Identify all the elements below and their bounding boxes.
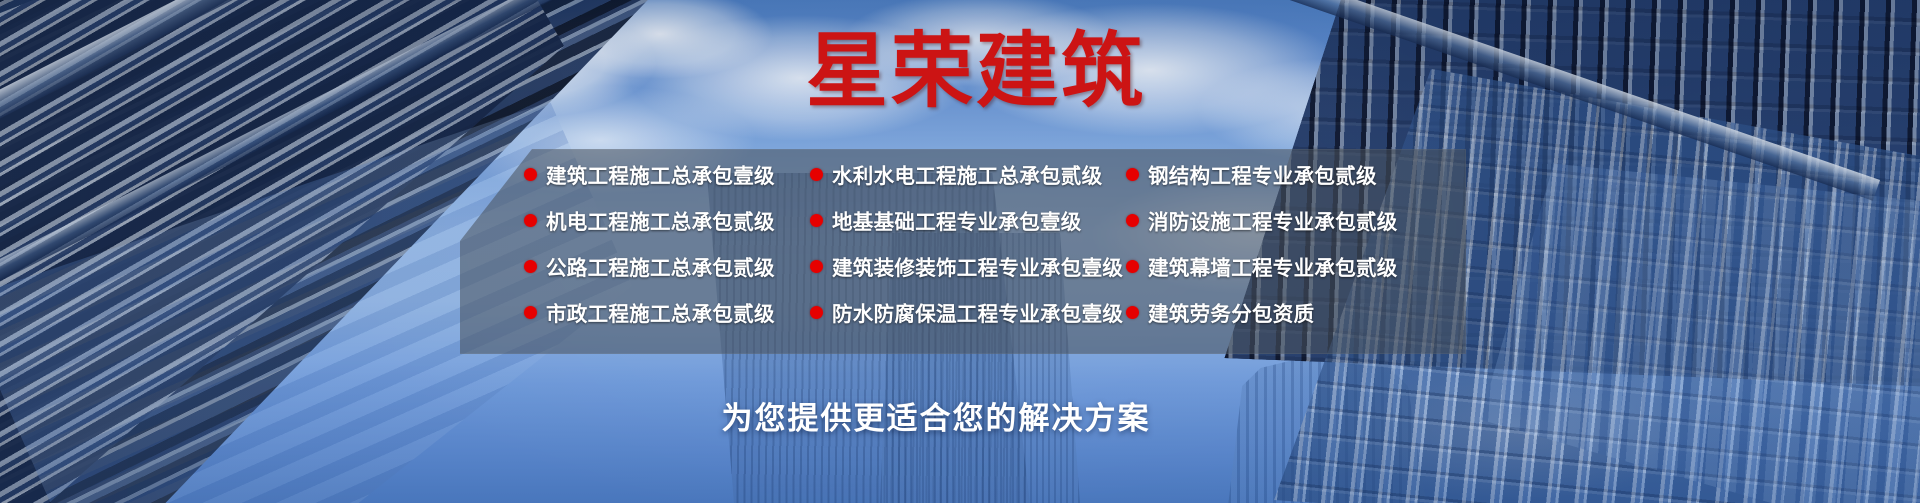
qualification-label: 市政工程施工总承包贰级 bbox=[546, 297, 775, 327]
bullet-dot-icon bbox=[524, 168, 537, 181]
qualification-label: 防水防腐保温工程专业承包壹级 bbox=[832, 297, 1123, 327]
bullet-dot-icon bbox=[810, 214, 823, 227]
qualifications-column-2: 水利水电工程施工总承包贰级 地基基础工程专业承包壹级 建筑装修装饰工程专业承包壹… bbox=[810, 155, 1110, 354]
promo-banner: 星荣建筑 建筑工程施工总承包壹级 机电工程施工总承包贰级 公路工程施工总承包贰级 bbox=[0, 0, 1920, 503]
bullet-dot-icon bbox=[524, 214, 537, 227]
bullet-dot-icon bbox=[810, 168, 823, 181]
list-item: 建筑劳务分包资质 bbox=[1126, 293, 1416, 331]
qualification-label: 消防设施工程专业承包贰级 bbox=[1148, 205, 1398, 235]
list-item: 水利水电工程施工总承包贰级 bbox=[810, 155, 1110, 193]
list-item: 钢结构工程专业承包贰级 bbox=[1126, 155, 1416, 193]
qualification-label: 建筑装修装饰工程专业承包壹级 bbox=[832, 251, 1123, 281]
qualifications-columns: 建筑工程施工总承包壹级 机电工程施工总承包贰级 公路工程施工总承包贰级 市政工程… bbox=[440, 149, 1466, 354]
list-item: 消防设施工程专业承包贰级 bbox=[1126, 201, 1416, 239]
bullet-dot-icon bbox=[810, 260, 823, 273]
qualification-label: 钢结构工程专业承包贰级 bbox=[1148, 159, 1377, 189]
list-item: 地基基础工程专业承包壹级 bbox=[810, 201, 1110, 239]
list-item: 建筑装修装饰工程专业承包壹级 bbox=[810, 247, 1110, 285]
company-title: 星荣建筑 bbox=[0, 26, 1920, 118]
qualifications-panel: 建筑工程施工总承包壹级 机电工程施工总承包贰级 公路工程施工总承包贰级 市政工程… bbox=[440, 149, 1466, 354]
list-item: 防水防腐保温工程专业承包壹级 bbox=[810, 293, 1110, 331]
qualification-label: 水利水电工程施工总承包贰级 bbox=[832, 159, 1102, 189]
banner-tagline-text: 为您提供更适合您的解决方案 bbox=[722, 393, 1151, 438]
company-title-text: 星荣建筑 bbox=[806, 26, 1146, 118]
bullet-dot-icon bbox=[1126, 168, 1139, 181]
bullet-dot-icon bbox=[524, 306, 537, 319]
list-item: 公路工程施工总承包贰级 bbox=[524, 247, 792, 285]
bullet-dot-icon bbox=[1126, 214, 1139, 227]
qualification-label: 建筑劳务分包资质 bbox=[1148, 297, 1314, 327]
qualifications-column-1: 建筑工程施工总承包壹级 机电工程施工总承包贰级 公路工程施工总承包贰级 市政工程… bbox=[524, 155, 792, 354]
list-item: 机电工程施工总承包贰级 bbox=[524, 201, 792, 239]
list-item: 建筑工程施工总承包壹级 bbox=[524, 155, 792, 193]
qualification-label: 地基基础工程专业承包壹级 bbox=[832, 205, 1082, 235]
banner-tagline: 为您提供更适合您的解决方案 bbox=[0, 393, 1920, 438]
bullet-dot-icon bbox=[1126, 306, 1139, 319]
list-item: 建筑幕墙工程专业承包贰级 bbox=[1126, 247, 1416, 285]
list-item: 市政工程施工总承包贰级 bbox=[524, 293, 792, 331]
qualification-label: 建筑幕墙工程专业承包贰级 bbox=[1148, 251, 1398, 281]
qualification-label: 机电工程施工总承包贰级 bbox=[546, 205, 775, 235]
qualification-label: 建筑工程施工总承包壹级 bbox=[546, 159, 775, 189]
bullet-dot-icon bbox=[1126, 260, 1139, 273]
qualifications-column-3: 钢结构工程专业承包贰级 消防设施工程专业承包贰级 建筑幕墙工程专业承包贰级 建筑… bbox=[1126, 155, 1416, 354]
bullet-dot-icon bbox=[810, 306, 823, 319]
bullet-dot-icon bbox=[524, 260, 537, 273]
qualification-label: 公路工程施工总承包贰级 bbox=[546, 251, 775, 281]
